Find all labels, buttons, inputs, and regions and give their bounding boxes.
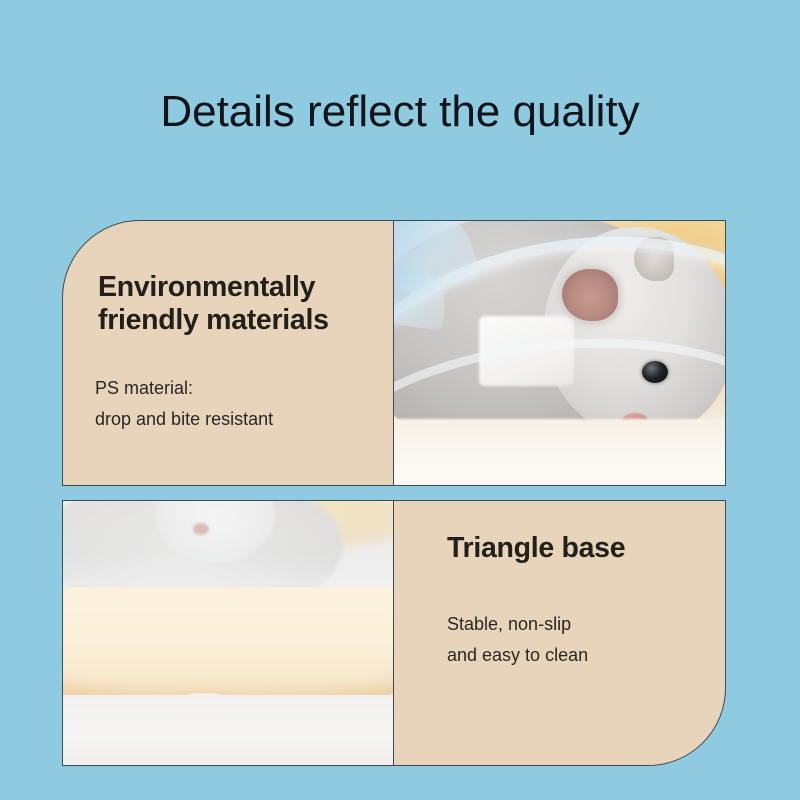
table-surface [63,695,394,765]
panel-4-body-line-2: and easy to clean [447,645,588,665]
panel-triangle-base: Triangle base Stable, non-slip and easy … [393,500,726,766]
panel-1-body: PS material: drop and bite resistant [95,373,273,435]
panel-4-body: Stable, non-slip and easy to clean [447,609,588,671]
panel-environmentally-friendly-materials: Environmentally friendly materials PS ma… [62,220,395,486]
feature-grid: Environmentally friendly materials PS ma… [62,220,726,766]
photo-wheel-base [62,500,395,766]
feature-row-bottom: Triangle base Stable, non-slip and easy … [62,500,726,766]
hamster-wheel-illustration [394,221,725,485]
panel-4-body-line-1: Stable, non-slip [447,614,571,634]
panel-4-heading-line-1: Triangle base [447,532,625,564]
page-title: Details reflect the quality [0,86,800,138]
panel-4-heading: Triangle base [447,532,625,565]
feature-row-top: Environmentally friendly materials PS ma… [62,220,726,486]
panel-1-heading-line-1: Environmentally [98,271,315,303]
photo-hamster-in-clear-wheel [393,220,726,486]
panel-1-body-line-1: PS material: [95,378,193,398]
panel-1-heading-line-2: friendly materials [98,304,329,336]
panel-1-body-line-2: drop and bite resistant [95,409,273,429]
wheel-base-illustration [63,501,394,765]
panel-1-heading: Environmentally friendly materials [98,271,329,337]
